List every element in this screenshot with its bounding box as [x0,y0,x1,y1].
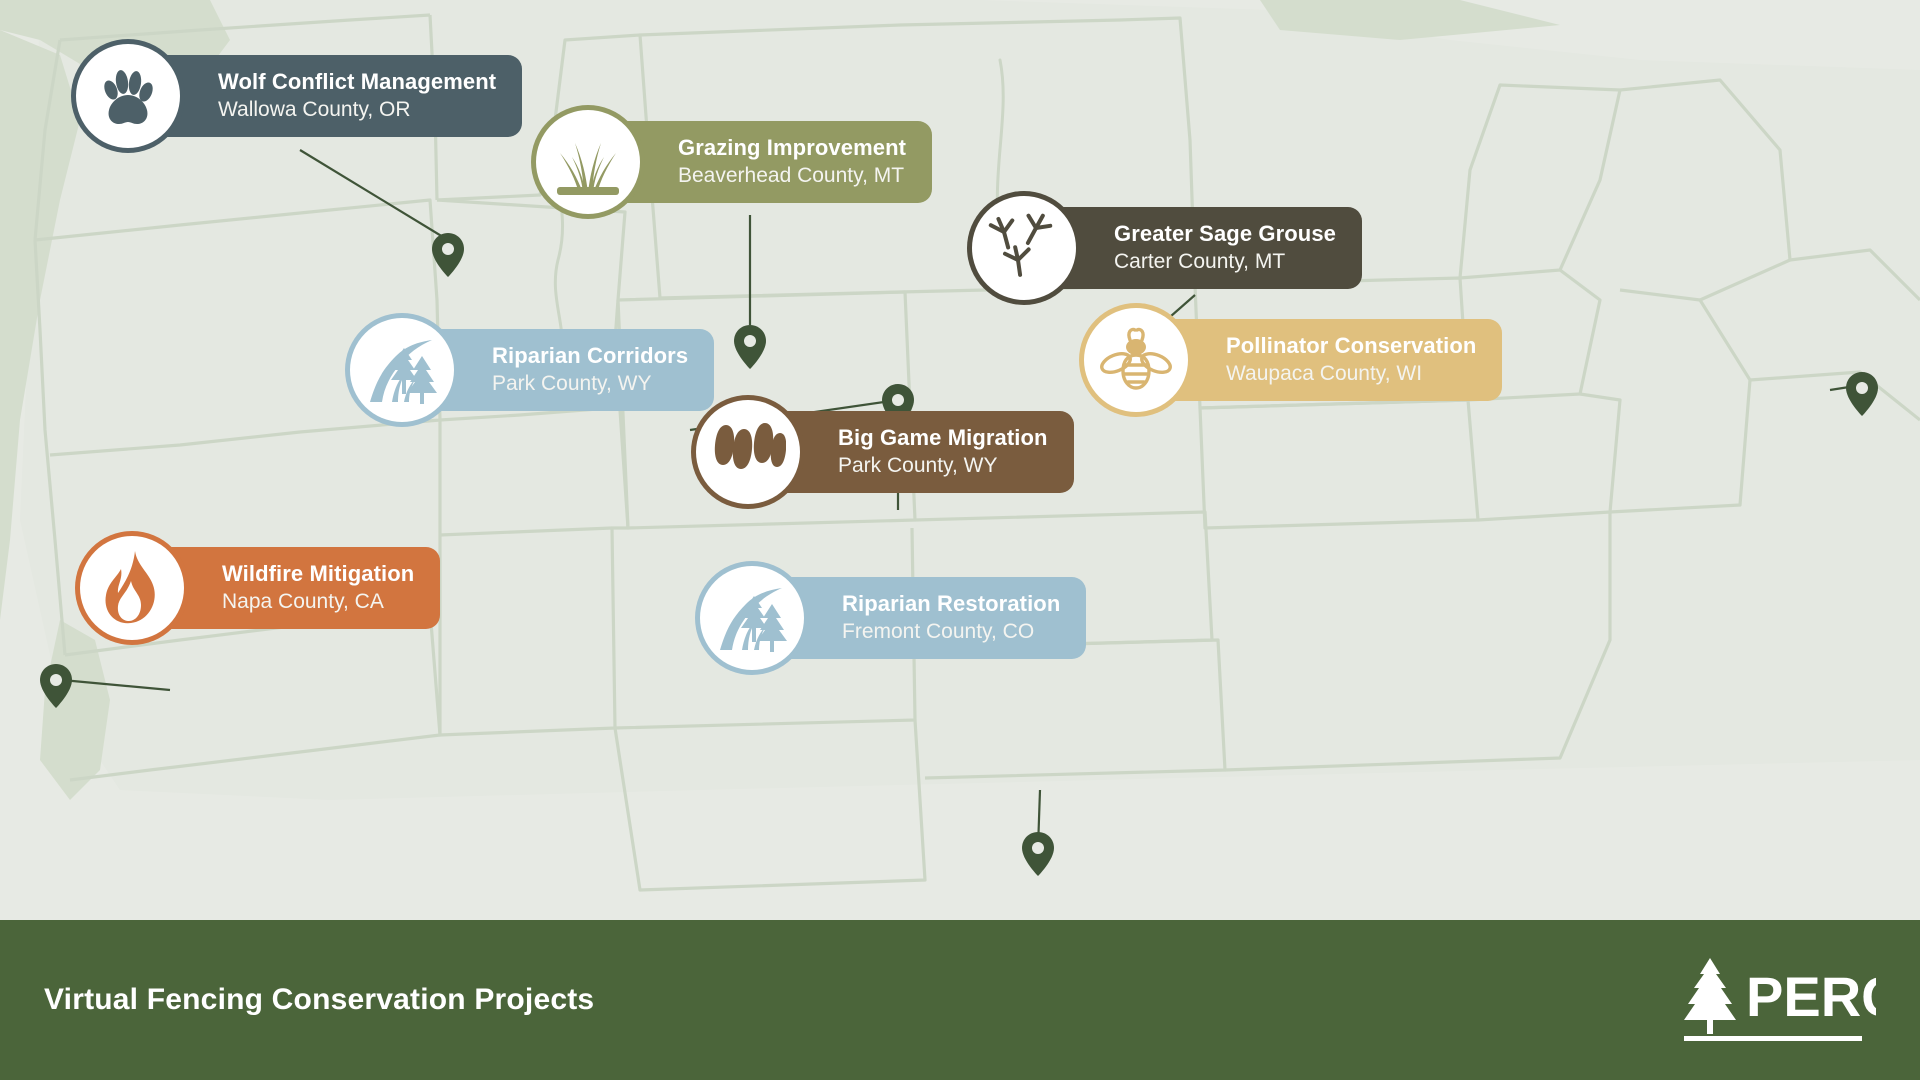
badge-disc [696,400,800,504]
badge-location: Beaverhead County, MT [678,163,906,188]
badge-location: Napa County, CA [222,589,414,614]
project-badge-wolf-conflict-management[interactable]: Wolf Conflict Management Wallowa County,… [76,44,180,148]
river-trees-icon [712,578,792,658]
badge-location: Wallowa County, OR [218,97,496,122]
badge-plate: Wolf Conflict Management Wallowa County,… [122,55,522,137]
bird-tracks-icon [988,212,1060,284]
badge-title: Riparian Restoration [842,592,1060,617]
project-badge-riparian-corridors[interactable]: Riparian Corridors Park County, WY [350,318,454,422]
badge-title: Pollinator Conservation [1226,334,1476,359]
badge-location: Park County, WY [838,453,1048,478]
map-pin-napa [40,664,72,708]
footer-title: Virtual Fencing Conservation Projects [44,983,594,1017]
badge-disc [350,318,454,422]
badge-title: Riparian Corridors [492,344,688,369]
pine-tree-icon [1684,958,1736,1034]
bee-icon [1100,327,1172,393]
project-badge-riparian-restoration[interactable]: Riparian Restoration Fremont County, CO [700,566,804,670]
badge-disc [76,44,180,148]
badge-title: Big Game Migration [838,426,1048,451]
badge-title: Grazing Improvement [678,136,906,161]
perc-logo-text: PERC [1746,965,1876,1028]
project-badge-grazing-improvement[interactable]: Grazing Improvement Beaverhead County, M… [536,110,640,214]
project-badge-pollinator-conservation[interactable]: Pollinator Conservation Waupaca County, … [1084,308,1188,412]
badge-title: Wolf Conflict Management [218,70,496,95]
badge-title: Greater Sage Grouse [1114,222,1336,247]
badge-location: Carter County, MT [1114,249,1336,274]
flame-icon [103,551,161,625]
wolf-paw-icon [95,63,161,129]
badge-disc [80,536,184,640]
footer-banner: Virtual Fencing Conservation Projects PE… [0,920,1920,1080]
map-pin-fremont [1022,832,1054,876]
project-badge-wildfire-mitigation[interactable]: Wildfire Mitigation Napa County, CA [80,536,184,640]
perc-logo-underline [1684,1036,1862,1041]
river-trees-icon [362,330,442,410]
badge-disc [700,566,804,670]
badge-disc [972,196,1076,300]
badge-disc [536,110,640,214]
grass-icon [553,129,623,195]
map-pin-beaverhead [734,325,766,369]
perc-logo: PERC [1676,954,1876,1046]
infographic-canvas: Wolf Conflict Management Wallowa County,… [0,0,1920,1080]
connector-lines [62,150,1862,848]
hoof-print-icon [710,419,786,485]
project-badge-big-game-migration[interactable]: Big Game Migration Park County, WY [696,400,800,504]
badge-disc [1084,308,1188,412]
badge-location: Fremont County, CO [842,619,1060,644]
project-badge-greater-sage-grouse[interactable]: Greater Sage Grouse Carter County, MT [972,196,1076,300]
perc-logo-mark: PERC [1676,954,1876,1046]
map-pin-waupaca [1846,372,1878,416]
badge-title: Wildfire Mitigation [222,562,414,587]
badge-location: Waupaca County, WI [1226,361,1476,386]
badge-location: Park County, WY [492,371,688,396]
map-pin-wallowa [432,233,464,277]
